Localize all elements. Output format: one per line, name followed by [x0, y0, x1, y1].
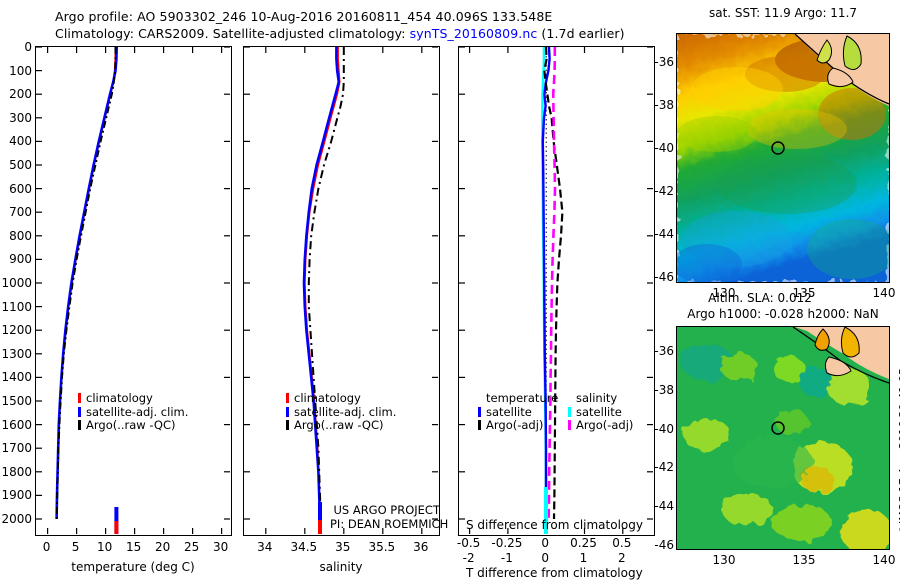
depth-tick: 0 — [24, 40, 32, 54]
sst-xtick: 140 — [873, 286, 896, 300]
t-diff-xtick: -1 — [501, 551, 513, 565]
salinity-panel[interactable] — [243, 46, 440, 536]
salinity-xtick: 34 — [257, 540, 272, 554]
legend-swatch-black — [478, 420, 481, 430]
sla-xtick: 130 — [713, 553, 736, 567]
legend-swatch-red — [286, 393, 289, 403]
legend-label: satellite — [486, 405, 532, 419]
depth-tick: 600 — [9, 182, 32, 196]
t-diff-xtick: 1 — [580, 551, 588, 565]
depth-tick: 900 — [9, 252, 32, 266]
depth-tick: 1100 — [1, 300, 32, 314]
sst-map-title: sat. SST: 11.9 Argo: 11.7 — [709, 6, 857, 20]
sst-map[interactable] — [676, 33, 890, 283]
sla-ytick: -44 — [654, 499, 674, 513]
salinity-xtick: 35.5 — [368, 540, 395, 554]
sla-ytick: -40 — [654, 422, 674, 436]
depth-tick: 100 — [9, 64, 32, 78]
sst-ytick: -38 — [654, 98, 674, 112]
legend-swatch-black — [78, 420, 81, 430]
s-diff-xtick: 0.25 — [570, 536, 597, 550]
legend-swatch-blue — [78, 407, 81, 417]
title-offset-text: (1.7d earlier) — [537, 26, 624, 41]
legend-swatch-magenta — [568, 420, 571, 430]
sla-xtick: 135 — [793, 553, 816, 567]
legend-item-satellite: satellite-adj. clim. — [286, 406, 396, 420]
sst-map-image — [677, 34, 889, 282]
legend-label: satellite — [576, 405, 622, 419]
depth-tick: 300 — [9, 111, 32, 125]
salinity-xtick: 35 — [335, 540, 350, 554]
depth-tick: 200 — [9, 87, 32, 101]
temperature-panel[interactable] — [35, 46, 232, 536]
legend-item-climatology: climatology — [286, 392, 396, 406]
sst-ytick: -44 — [654, 227, 674, 241]
page-title-line1: Argo profile: AO 5903302_246 10-Aug-2016… — [55, 9, 552, 24]
difference-plot — [459, 47, 653, 534]
sla-xtick: 140 — [873, 553, 896, 567]
temperature-xtick: 30 — [213, 540, 228, 554]
salinity-argo-line — [309, 47, 344, 519]
depth-tick: 1500 — [1, 394, 32, 408]
salinity-plot — [244, 47, 438, 534]
t-diff-xtick: 2 — [618, 551, 626, 565]
legend-label: Argo(..raw -QC) — [86, 418, 176, 432]
legend-swatch-black — [286, 420, 289, 430]
depth-tick: 1600 — [1, 418, 32, 432]
sla-map-title-line1: Altim. SLA: 0.012 — [708, 291, 812, 305]
legend-label: satellite-adj. clim. — [294, 405, 396, 419]
legend-item-temp-satellite: satellite — [478, 406, 558, 420]
depth-tick: 1400 — [1, 370, 32, 384]
legend-item-argo: Argo(..raw -QC) — [286, 419, 396, 433]
salinity-climatology-line — [305, 47, 340, 519]
temperature-plot — [36, 47, 230, 534]
temperature-argo-line — [57, 47, 116, 519]
synts-file-link[interactable]: synTS_20160809.nc — [410, 26, 538, 41]
page-title-line2: Climatology: CARS2009. Satellite-adjuste… — [55, 26, 625, 41]
legend-label: satellite-adj. clim. — [86, 405, 188, 419]
temperature-xtick: 0 — [43, 540, 51, 554]
legend-label: Argo(..raw -QC) — [294, 418, 384, 432]
legend-swatch-blue — [286, 407, 289, 417]
sla-ytick: -36 — [654, 344, 674, 358]
temperature-satellite-line — [57, 47, 117, 519]
sst-ytick: -40 — [654, 141, 674, 155]
temperature-xtick: 10 — [97, 540, 112, 554]
depth-tick: 1200 — [1, 323, 32, 337]
sst-ytick: -36 — [654, 55, 674, 69]
salinity-xtick: 34.5 — [290, 540, 317, 554]
legend-label: Argo(-adj) — [576, 418, 633, 432]
temperature-xtick: 20 — [155, 540, 170, 554]
depth-tick: 1900 — [1, 488, 32, 502]
legend-heading-salinity: salinity — [568, 392, 633, 406]
sla-map[interactable] — [676, 326, 890, 550]
temperature-axis-title: temperature (deg C) — [71, 560, 194, 574]
s-diff-xtick: 0 — [541, 536, 549, 550]
depth-tick: 1300 — [1, 347, 32, 361]
sst-ytick: -46 — [654, 270, 674, 284]
depth-tick: 1800 — [1, 465, 32, 479]
salinity-xtick: 36 — [413, 540, 428, 554]
sla-ytick: -38 — [654, 383, 674, 397]
temperature-xtick: 25 — [184, 540, 199, 554]
t-diff-xtick: -2 — [463, 551, 475, 565]
sst-ytick: -42 — [654, 184, 674, 198]
s-diff-xtick: -0.5 — [457, 536, 480, 550]
sla-ytick: -42 — [654, 460, 674, 474]
legend-item-argo: Argo(..raw -QC) — [78, 419, 188, 433]
s-diff-xtick: 0.5 — [612, 536, 631, 550]
credit-line-2: PI: DEAN ROEMMICH — [330, 517, 440, 531]
salinity-surface-marker-red — [318, 520, 322, 534]
depth-tick: 800 — [9, 229, 32, 243]
legend-label: climatology — [294, 391, 361, 405]
sla-map-image — [677, 327, 889, 549]
title-climatology-text: Climatology: CARS2009. Satellite-adjuste… — [55, 26, 410, 41]
legend-label: climatology — [86, 391, 153, 405]
difference-legend-temperature: temperature satellite Argo(-adj) — [478, 392, 558, 433]
salinity-axis-title: salinity — [319, 560, 362, 574]
depth-tick: 1000 — [1, 276, 32, 290]
difference-legend-salinity: salinity satellite Argo(-adj) — [568, 392, 633, 433]
depth-tick: 700 — [9, 205, 32, 219]
salinity-legend: climatology satellite-adj. clim. Argo(..… — [286, 392, 396, 433]
difference-panel[interactable] — [458, 46, 655, 536]
temperature-xtick: 5 — [72, 540, 80, 554]
legend-item-climatology: climatology — [78, 392, 188, 406]
s-diff-xtick: -0.25 — [491, 536, 522, 550]
temperature-legend: climatology satellite-adj. clim. Argo(..… — [78, 392, 188, 433]
legend-item-sal-argo: Argo(-adj) — [568, 419, 633, 433]
temperature-xtick: 15 — [126, 540, 141, 554]
project-credit: US ARGO PROJECT PI: DEAN ROEMMICH — [330, 503, 440, 531]
depth-tick: 500 — [9, 158, 32, 172]
legend-swatch-blue — [478, 407, 481, 417]
temperature-surface-marker-red — [114, 521, 118, 534]
depth-tick: 400 — [9, 134, 32, 148]
difference-temperature-satellite-line — [543, 47, 550, 519]
t-difference-axis-title: T difference from climatology — [466, 566, 643, 580]
credit-line-1: US ARGO PROJECT — [330, 503, 440, 517]
legend-swatch-cyan — [568, 407, 571, 417]
t-diff-xtick: 0 — [541, 551, 549, 565]
legend-item-sal-satellite: satellite — [568, 406, 633, 420]
legend-item-satellite: satellite-adj. clim. — [78, 406, 188, 420]
sla-map-title-line2: Argo h1000: -0.028 h2000: NaN — [687, 307, 879, 321]
s-difference-axis-title: S difference from climatology — [466, 518, 643, 532]
depth-tick: 1700 — [1, 441, 32, 455]
sla-ytick: -46 — [654, 538, 674, 552]
legend-swatch-red — [78, 393, 81, 403]
legend-item-temp-argo: Argo(-adj) — [478, 419, 558, 433]
legend-heading-temperature: temperature — [478, 392, 558, 406]
legend-label: Argo(-adj) — [486, 418, 543, 432]
depth-tick: 2000 — [1, 512, 32, 526]
